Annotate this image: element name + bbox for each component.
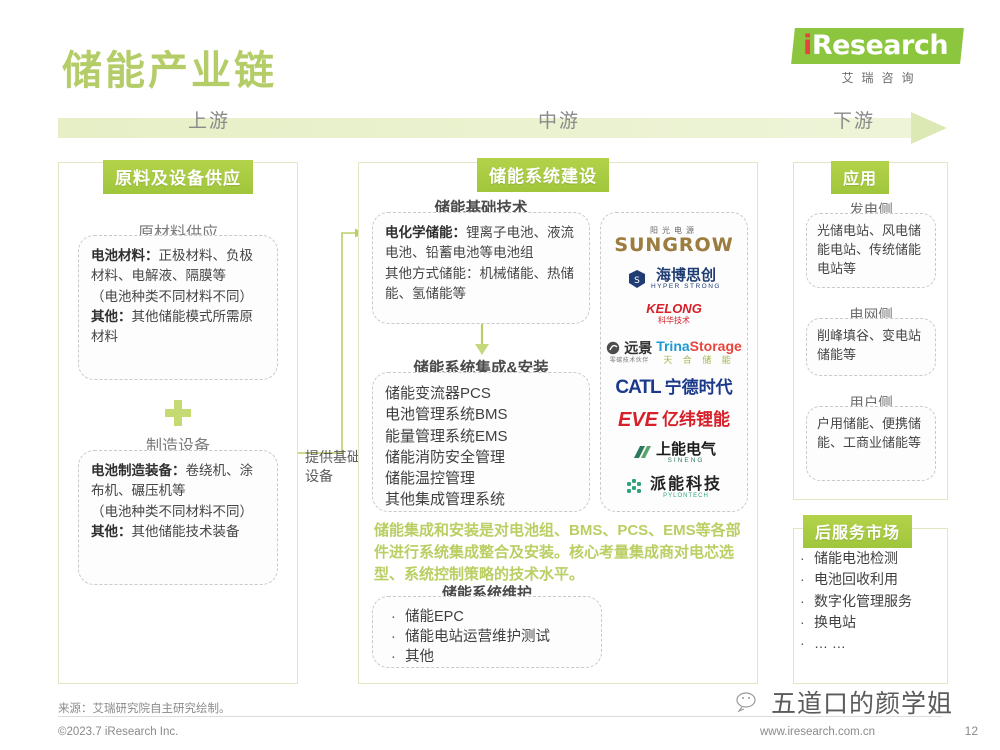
wechat-watermark: 五道口的颜学姐 (735, 684, 953, 720)
vendor-logo-panel: 阳光电源 SUNGROW S 海博思创 HYPER STRONG KELONG … (600, 212, 748, 512)
equip-line1-label: 电池制造装备： (91, 463, 186, 478)
kelong-wordmark: KELONG (605, 302, 743, 315)
equipment-body: 电池制造装备：卷绕机、涂布机、碾压机等 （电池种类不同材料不同） 其他：其他储能… (91, 461, 265, 542)
catl-wordmark: CATL (615, 378, 660, 397)
equip-line2: （电池种类不同材料不同） (91, 504, 253, 519)
raw-material-card: 电池材料：正极材料、负极材料、电解液、隔膜等 （电池种类不同材料不同） 其他：其… (78, 235, 278, 380)
eve-wordmark: EVE (618, 410, 658, 430)
stage-label-upstream: 上游 (188, 106, 230, 133)
pylontech-dots-icon (626, 478, 646, 498)
slide-page: 储能产业链 iResearch 艾瑞咨询 上游 中游 下游 原料及设备供应 原材… (0, 0, 1000, 750)
hyperstrong-cn-name: 海博思创 (651, 268, 721, 283)
footer-divider (58, 716, 942, 717)
sineng-cn-name: 上能电气 (656, 442, 716, 457)
logo-sineng: 上能电气 SINENG (605, 442, 743, 464)
page-number: 12 (965, 724, 978, 738)
integration-item: 能量管理系统EMS (385, 426, 577, 447)
storage-tech-card: 电化学储能：锂离子电池、液流电池、铅蓄电池等电池组 其他方式储能：机械储能、热储… (372, 212, 590, 324)
envision-cn-name: 远景 (624, 341, 652, 355)
logo-envision: 远景 零碳技术伙伴 (606, 341, 652, 364)
integration-item: 电池管理系统BMS (385, 404, 577, 425)
integration-item: 其他集成管理系统 (385, 489, 577, 510)
logo-kelong: KELONG 科华技术 (605, 302, 743, 326)
after-service-list: 储能电池检测 电池回收利用 数字化管理服务 换电站 … … (800, 548, 950, 654)
envision-swirl-icon (606, 341, 620, 355)
stage-label-downstream: 下游 (833, 106, 875, 133)
integration-item: 储能变流器PCS (385, 383, 577, 404)
after-service-item: 数字化管理服务 (800, 591, 950, 612)
downstream-badge: 应用 (831, 161, 889, 194)
integration-item: 储能温控管理 (385, 468, 577, 489)
logo-subtitle: 艾瑞咨询 (793, 69, 962, 86)
logo-envision-trina-row: 远景 零碳技术伙伴 TrinaStorage 天 合 储 能 (605, 339, 743, 366)
after-service-item: … … (800, 633, 950, 654)
equip-line3-text: 其他储能技术装备 (132, 524, 240, 539)
footer-url: www.iresearch.com.cn (760, 726, 875, 738)
upstream-badge: 原料及设备供应 (103, 160, 253, 194)
wechat-icon (735, 690, 765, 714)
storage-tech-body: 电化学储能：锂离子电池、液流电池、铅蓄电池等电池组 其他方式储能：机械储能、热储… (385, 223, 577, 304)
user-side-body: 户用储能、便携储能、工商业储能等 (817, 415, 925, 453)
pylontech-en-name: PYLONTECH (650, 493, 722, 499)
maintenance-item: 其他 (391, 647, 589, 667)
connector-label: 提供基础设备 (305, 448, 361, 486)
trina-wordmark: TrinaStorage (656, 339, 742, 353)
tech-line2-label: 其他方式储能： (385, 266, 480, 281)
logo-wordmark: iResearch (803, 30, 948, 61)
source-note: 来源：艾瑞研究院自主研究绘制。 (58, 700, 231, 716)
plus-icon (163, 398, 193, 428)
after-service-item: 电池回收利用 (800, 569, 950, 590)
logo-pylontech: 派能科技 PYLONTECH (605, 477, 743, 499)
logo-catl: CATL 宁德时代 (605, 378, 743, 397)
hyperstrong-en-name: HYPER STRONG (651, 283, 721, 290)
copyright-text: ©2023.7 iResearch Inc. (58, 726, 178, 738)
user-side-card: 户用储能、便携储能、工商业储能等 (806, 406, 936, 481)
manufacturing-equipment-card: 电池制造装备：卷绕机、涂布机、碾压机等 （电池种类不同材料不同） 其他：其他储能… (78, 450, 278, 585)
raw-line2: （电池种类不同材料不同） (91, 289, 253, 304)
integration-note: 储能集成和安装是对电池组、BMS、PCS、EMS等各部件进行系统集成整合及安装。… (374, 520, 744, 585)
system-maintenance-card: 储能EPC 储能电站运营维护测试 其他 (372, 596, 602, 668)
logo-hyperstrong: S 海博思创 HYPER STRONG (605, 268, 743, 290)
arrow-head-icon (911, 112, 947, 144)
sineng-mark-icon (632, 444, 652, 462)
system-maintenance-list: 储能EPC 储能电站运营维护测试 其他 (385, 607, 589, 667)
maintenance-item: 储能EPC (391, 607, 589, 627)
logo-mark: iResearch (791, 28, 964, 64)
page-title: 储能产业链 (62, 38, 277, 96)
after-service-badge: 后服务市场 (803, 515, 912, 548)
hyperstrong-shield-icon: S (627, 269, 647, 289)
eve-cn-name: 亿纬锂能 (662, 411, 730, 428)
watermark-text: 五道口的颜学姐 (771, 684, 953, 720)
arrow-bar (58, 118, 913, 138)
after-service-item: 换电站 (800, 612, 950, 633)
logo-sungrow: 阳光电源 SUNGROW (605, 225, 743, 255)
system-integration-list: 储能变流器PCS 电池管理系统BMS 能量管理系统EMS 储能消防安全管理 储能… (385, 383, 577, 511)
raw-line1-label: 电池材料： (91, 248, 159, 263)
raw-line3-label: 其他： (91, 309, 132, 324)
grid-side-body: 削峰填谷、变电站储能等 (817, 327, 925, 365)
kelong-cn-name: 科华技术 (605, 315, 743, 326)
pylontech-cn-name: 派能科技 (650, 477, 722, 493)
stage-arrow-band: 上游 中游 下游 (58, 118, 948, 138)
tech-line1-label: 电化学储能： (385, 225, 466, 240)
integration-item: 储能消防安全管理 (385, 447, 577, 468)
grid-side-card: 削峰填谷、变电站储能等 (806, 318, 936, 376)
logo-research-text: Research (812, 30, 948, 61)
sineng-en-name: SINENG (656, 457, 716, 464)
after-service-item: 储能电池检测 (800, 548, 950, 569)
midstream-badge: 储能系统建设 (477, 158, 609, 192)
system-integration-card: 储能变流器PCS 电池管理系统BMS 能量管理系统EMS 储能消防安全管理 储能… (372, 372, 590, 512)
maintenance-item: 储能电站运营维护测试 (391, 627, 589, 647)
generation-side-card: 光储电站、风电储能电站、传统储能电站等 (806, 213, 936, 288)
catl-cn-name: 宁德时代 (665, 379, 733, 396)
raw-material-body: 电池材料：正极材料、负极材料、电解液、隔膜等 （电池种类不同材料不同） 其他：其… (91, 246, 265, 347)
iresearch-logo: iResearch 艾瑞咨询 (793, 28, 962, 86)
trina-cn-name: 天 合 储 能 (656, 353, 742, 366)
logo-eve: EVE 亿纬锂能 (605, 410, 743, 430)
sungrow-wordmark: SUNGROW (605, 236, 743, 255)
logo-trina: TrinaStorage 天 合 储 能 (656, 339, 742, 366)
equip-line3-label: 其他： (91, 524, 132, 539)
stage-label-midstream: 中游 (538, 106, 580, 133)
generation-side-body: 光储电站、风电储能电站、传统储能电站等 (817, 222, 925, 279)
down-arrow-icon (472, 324, 492, 356)
envision-tagline: 零碳技术伙伴 (606, 355, 652, 364)
svg-text:S: S (634, 276, 640, 286)
